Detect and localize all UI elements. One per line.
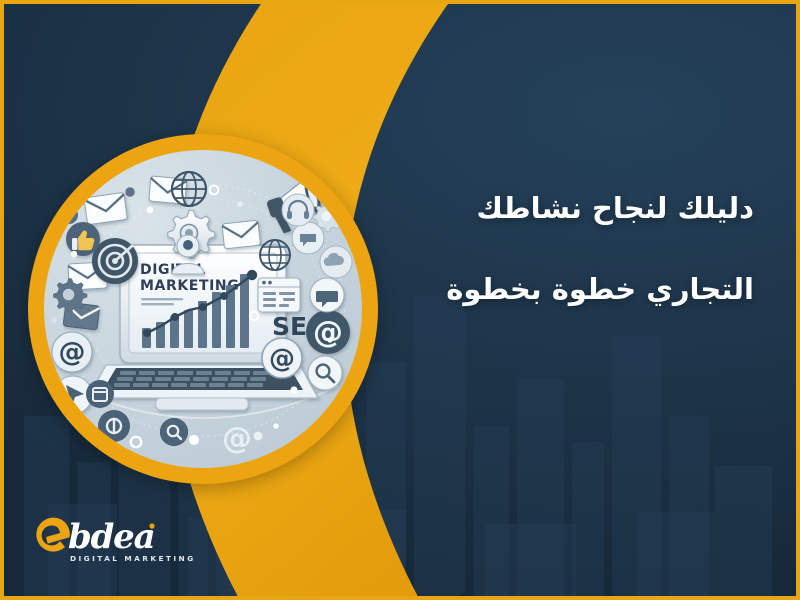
svg-text:SEO: SEO [300,446,332,462]
svg-text:SEO: SEO [68,456,100,468]
envelope-icon [222,220,260,249]
chat-bubble-icon [292,222,324,254]
svg-text:$: $ [65,210,73,223]
headline: دليلك لنجاح نشاطك التجاري خطوة بخطوة [354,194,754,304]
seo-badge: SEO [58,450,110,468]
illustration-circle: DIGITAL MARKETING [28,134,378,484]
at-sign-icon: @ [306,310,350,354]
headline-line-2: التجاري خطوة بخطوة [354,275,754,304]
svg-text:@: @ [222,421,252,456]
chat-bubble-icon [310,278,344,312]
envelope-icon [84,192,127,224]
folder-icon [58,418,88,448]
dollar-icon: $ [60,206,78,224]
brand-logo[interactable]: bdea DIGITAL MARKETING [28,504,208,566]
search-icon [308,356,342,390]
at-sign-icon: @ [262,338,302,378]
circle-face: DIGITAL MARKETING [44,150,362,468]
globe-icon [172,172,206,206]
search-icon [160,418,188,446]
svg-text:@: @ [59,337,86,368]
svg-text:bdea: bdea [68,517,154,557]
logo-e-mark [36,518,70,552]
svg-text:DIGITAL MARKETING: DIGITAL MARKETING [70,554,196,563]
svg-text:@: @ [269,344,295,374]
cloud-icon [320,246,352,278]
share-icon [98,410,130,442]
poster-canvas: DIGITAL MARKETING [0,0,800,600]
thumbs-up-icon [66,222,100,256]
headline-line-1: دليلك لنجاح نشاطك [354,194,754,223]
digital-marketing-illustration: DIGITAL MARKETING [44,150,362,468]
calendar-icon [86,380,114,408]
svg-text:@: @ [313,315,343,350]
browser-window-icon [258,278,300,312]
seo-speech-bubble: SEO [288,440,344,468]
headset-icon [282,194,314,226]
svg-text:MARKETING: MARKETING [140,278,239,294]
at-sign-icon: @ [222,421,252,456]
at-sign-icon: @ [52,332,92,372]
